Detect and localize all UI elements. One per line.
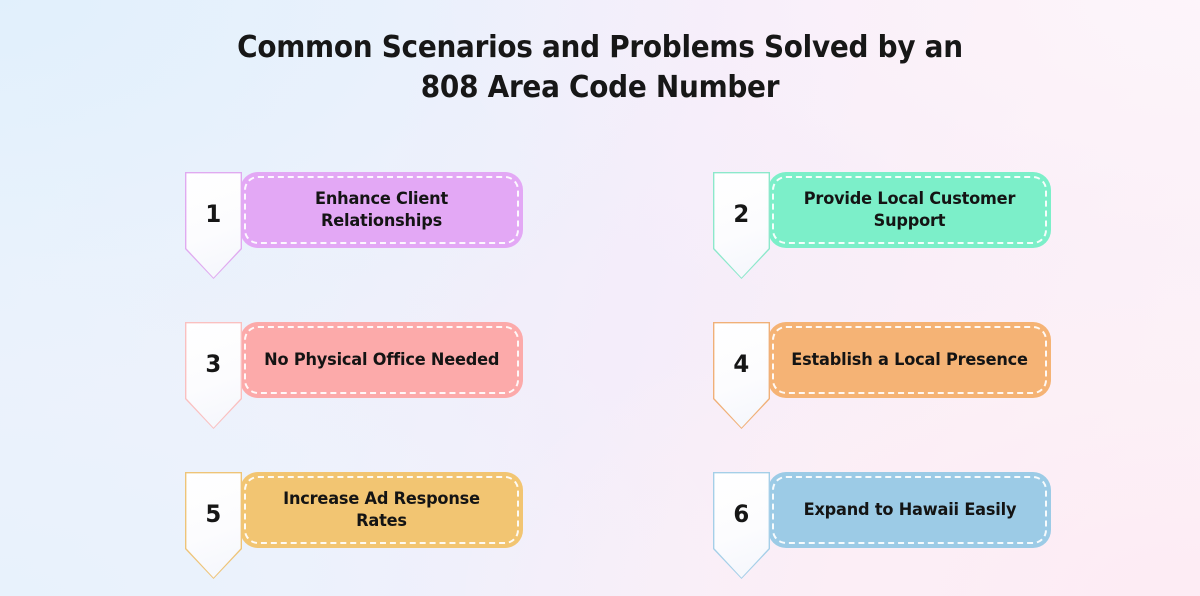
page-title-line-1: Common Scenarios and Problems Solved by … <box>42 28 1158 68</box>
scenario-card-3: 3 No Physical Office Needed <box>185 322 523 398</box>
card-number-5: 5 <box>206 502 222 526</box>
card-label-2: Provide Local Customer Support <box>775 188 1044 232</box>
card-number-badge-1: 1 <box>185 172 242 279</box>
card-label-5: Increase Ad Response Rates <box>247 488 516 532</box>
card-number-badge-6: 6 <box>713 472 770 579</box>
card-panel-2: Provide Local Customer Support <box>768 172 1051 248</box>
card-panel-4: Establish a Local Presence <box>768 322 1051 398</box>
card-panel-6: Expand to Hawaii Easily <box>768 472 1051 548</box>
page-title-line-2: 808 Area Code Number <box>42 68 1158 108</box>
scenario-card-6: 6 Expand to Hawaii Easily <box>713 472 1051 548</box>
card-number-badge-4: 4 <box>713 322 770 429</box>
card-number-badge-3: 3 <box>185 322 242 429</box>
infographic-canvas: Common Scenarios and Problems Solved by … <box>0 0 1200 596</box>
card-label-3: No Physical Office Needed <box>253 349 511 371</box>
page-title: Common Scenarios and Problems Solved by … <box>0 28 1200 108</box>
card-number-2: 2 <box>734 202 750 226</box>
card-number-4: 4 <box>734 352 750 376</box>
card-label-6: Expand to Hawaii Easily <box>792 499 1028 521</box>
card-number-1: 1 <box>206 202 222 226</box>
scenario-cards-grid: 1 Enhance Client Relationships 2 Provide… <box>185 172 1045 548</box>
card-number-badge-2: 2 <box>713 172 770 279</box>
card-panel-1: Enhance Client Relationships <box>240 172 523 248</box>
scenario-card-5: 5 Increase Ad Response Rates <box>185 472 523 548</box>
card-panel-5: Increase Ad Response Rates <box>240 472 523 548</box>
scenario-card-1: 1 Enhance Client Relationships <box>185 172 523 248</box>
card-panel-3: No Physical Office Needed <box>240 322 523 398</box>
card-number-6: 6 <box>734 502 750 526</box>
card-label-4: Establish a Local Presence <box>780 349 1039 371</box>
scenario-card-2: 2 Provide Local Customer Support <box>713 172 1051 248</box>
card-label-1: Enhance Client Relationships <box>247 188 516 232</box>
scenario-card-4: 4 Establish a Local Presence <box>713 322 1051 398</box>
card-number-3: 3 <box>206 352 222 376</box>
card-number-badge-5: 5 <box>185 472 242 579</box>
